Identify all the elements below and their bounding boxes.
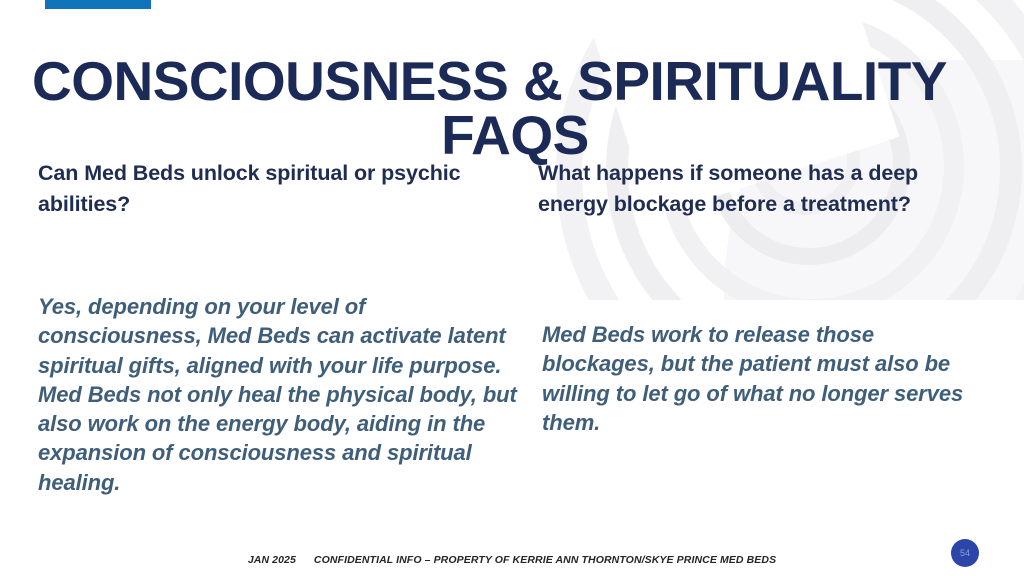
answer-text-left: Yes, depending on your level of consciou…: [38, 292, 528, 497]
question-block-left: Can Med Beds unlock spiritual or psychic…: [38, 158, 498, 219]
page-title: CONSCIOUSNESS & SPIRITUALITY FAQS: [20, 55, 1010, 163]
footer-date: JAN 2025: [248, 554, 296, 566]
page-title-line-1: CONSCIOUSNESS & SPIRITUALITY: [20, 55, 1010, 109]
page-number-badge: 54: [951, 539, 979, 567]
slide-footer: JAN 2025CONFIDENTIAL INFO – PROPERTY OF …: [0, 554, 1024, 566]
question-block-right: What happens if someone has a deep energ…: [538, 158, 968, 219]
footer-confidential-notice: CONFIDENTIAL INFO – PROPERTY OF KERRIE A…: [314, 554, 776, 566]
answer-block-left: Yes, depending on your level of consciou…: [38, 292, 528, 497]
slide-canvas: CONSCIOUSNESS & SPIRITUALITY FAQS Can Me…: [0, 0, 1024, 576]
page-title-line-2: FAQS: [20, 109, 1010, 163]
answer-text-right: Med Beds work to release those blockages…: [542, 320, 992, 437]
answer-block-right: Med Beds work to release those blockages…: [542, 320, 992, 437]
accent-bar: [45, 0, 151, 9]
question-text-left: Can Med Beds unlock spiritual or psychic…: [38, 158, 498, 219]
question-text-right: What happens if someone has a deep energ…: [538, 158, 968, 219]
